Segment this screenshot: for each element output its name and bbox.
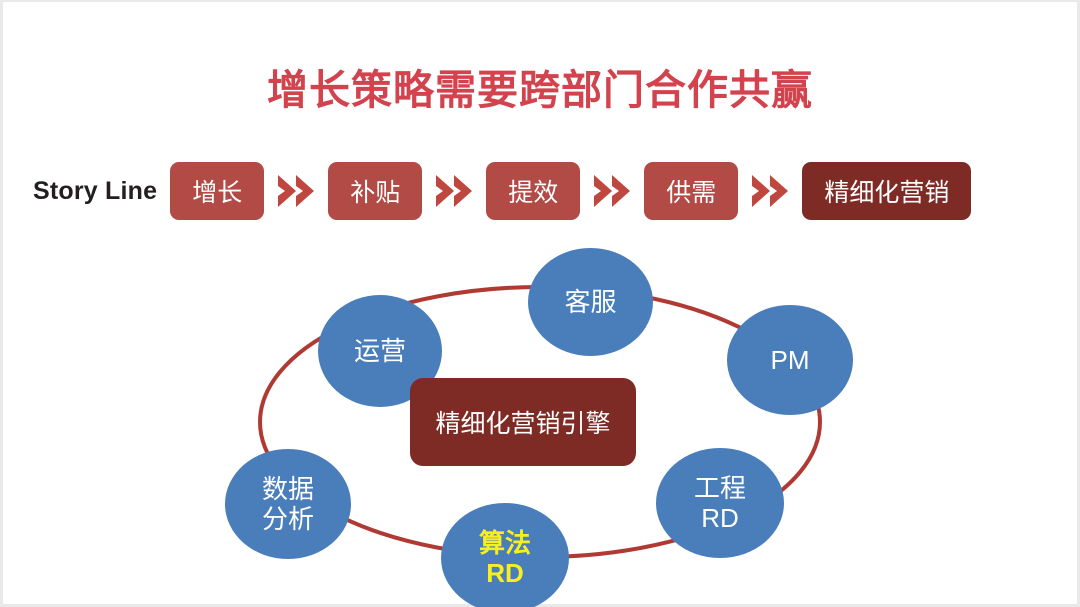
slide-title: 增长策略需要跨部门合作共赢 bbox=[0, 56, 1080, 116]
storyline-chip[interactable]: 补贴 bbox=[328, 162, 422, 220]
storyline-chip[interactable]: 供需 bbox=[644, 162, 738, 220]
storyline-arrow-icon bbox=[750, 172, 790, 210]
diagram-node[interactable]: 工程 RD bbox=[656, 448, 784, 558]
collaboration-diagram: 客服运营PM数据 分析工程 RD算法 RD 精细化营销引擎 bbox=[0, 232, 1080, 607]
storyline-arrow-icon bbox=[276, 172, 316, 210]
diagram-node[interactable]: 算法 RD bbox=[441, 503, 569, 607]
storyline-arrow-icon bbox=[592, 172, 632, 210]
storyline-row: Story Line 增长补贴提效供需精细化营销 bbox=[33, 158, 1047, 224]
storyline-chip[interactable]: 增长 bbox=[170, 162, 264, 220]
diagram-node[interactable]: 数据 分析 bbox=[225, 449, 351, 559]
storyline-steps: 增长补贴提效供需精细化营销 bbox=[170, 162, 971, 220]
slide-canvas: 增长策略需要跨部门合作共赢 Story Line 增长补贴提效供需精细化营销 客… bbox=[0, 0, 1080, 607]
storyline-chip[interactable]: 提效 bbox=[486, 162, 580, 220]
diagram-node[interactable]: PM bbox=[727, 305, 853, 415]
storyline-arrow-icon bbox=[434, 172, 474, 210]
diagram-node[interactable]: 客服 bbox=[528, 248, 653, 356]
center-engine-box[interactable]: 精细化营销引擎 bbox=[410, 378, 636, 466]
storyline-chip[interactable]: 精细化营销 bbox=[802, 162, 971, 220]
slide-edge-top bbox=[0, 0, 1080, 2]
storyline-label: Story Line bbox=[33, 177, 157, 206]
